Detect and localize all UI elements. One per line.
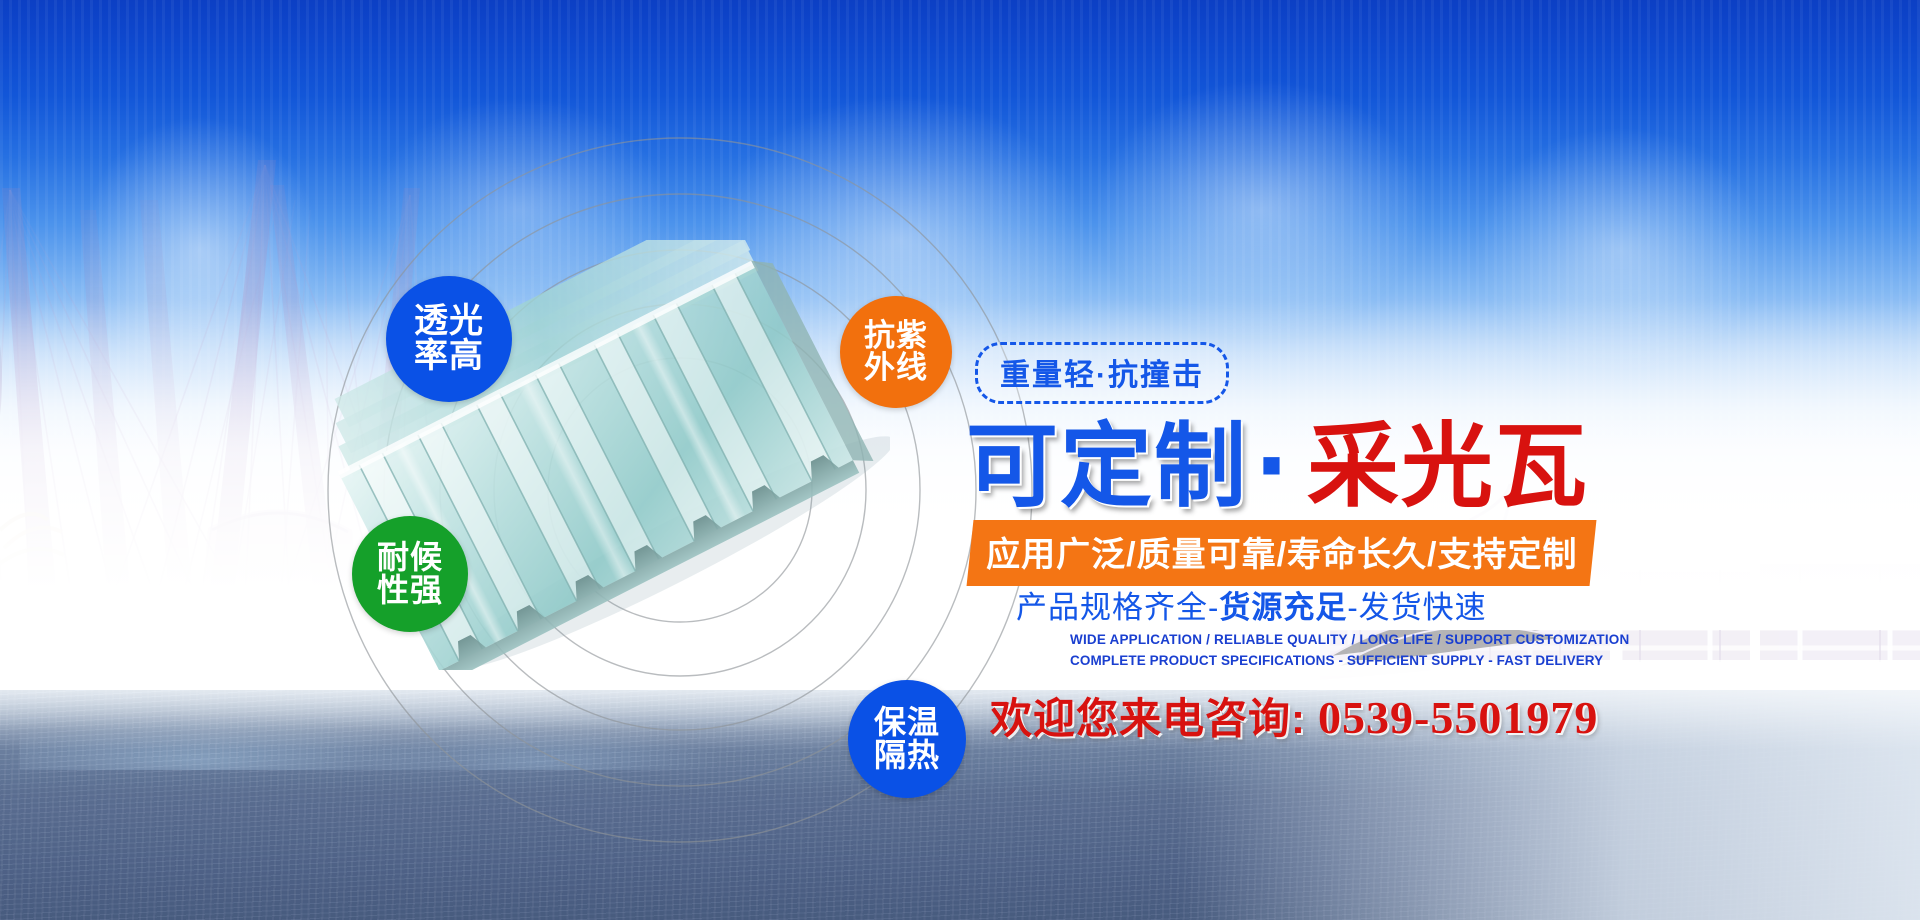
headline-red-text: 采光瓦	[1297, 413, 1589, 520]
english-line-1: WIDE APPLICATION / RELIABLE QUALITY / LO…	[1070, 630, 1629, 651]
feature-strip: 应用广泛/质量可靠/寿命长久/支持定制	[967, 520, 1597, 586]
badge-light-line1: 透光	[414, 304, 484, 339]
phone-label: 欢迎您来电咨询:	[990, 695, 1306, 742]
headline-separator-dot: ·	[1248, 413, 1297, 520]
badge-light-transmittance[interactable]: 透光 率高	[386, 276, 512, 402]
english-line-2: COMPLETE PRODUCT SPECIFICATIONS - SUFFIC…	[1070, 651, 1629, 672]
english-subtitle: WIDE APPLICATION / RELIABLE QUALITY / LO…	[1070, 630, 1629, 672]
subline-part1: 产品规格齐全-	[1016, 590, 1219, 625]
feature-strip-text: 应用广泛/质量可靠/寿命长久/支持定制	[986, 527, 1577, 576]
contact-phone[interactable]: 欢迎您来电咨询:0539-5501979	[990, 685, 1598, 746]
headline-blue-text: 可定制	[966, 413, 1248, 520]
badge-heat-line2: 隔热	[874, 739, 940, 772]
badge-weather-line2: 性强	[377, 574, 443, 607]
badge-light-line2: 率高	[414, 339, 484, 374]
badge-heat-line1: 保温	[874, 706, 940, 739]
subline-bold: 货源充足	[1219, 590, 1347, 625]
badge-weather-resistance[interactable]: 耐候 性强	[352, 516, 468, 632]
product-promo-banner: 透光 率高 抗紫 外线 耐候 性强 保温 隔热 重量轻·抗撞击 可定制·采光瓦 …	[0, 0, 1920, 920]
badge-anti-uv[interactable]: 抗紫 外线	[840, 296, 952, 408]
badge-uv-line2: 外线	[864, 352, 928, 384]
badge-heat-insulation[interactable]: 保温 隔热	[848, 680, 966, 798]
subline-part2: -发货快速	[1347, 590, 1486, 625]
subline: 产品规格齐全-货源充足-发货快速	[1016, 582, 1487, 627]
phone-number: 0539-5501979	[1306, 692, 1598, 743]
badge-weather-line1: 耐候	[377, 541, 443, 574]
headline: 可定制·采光瓦	[966, 392, 1589, 525]
badge-uv-line1: 抗紫	[864, 320, 928, 352]
